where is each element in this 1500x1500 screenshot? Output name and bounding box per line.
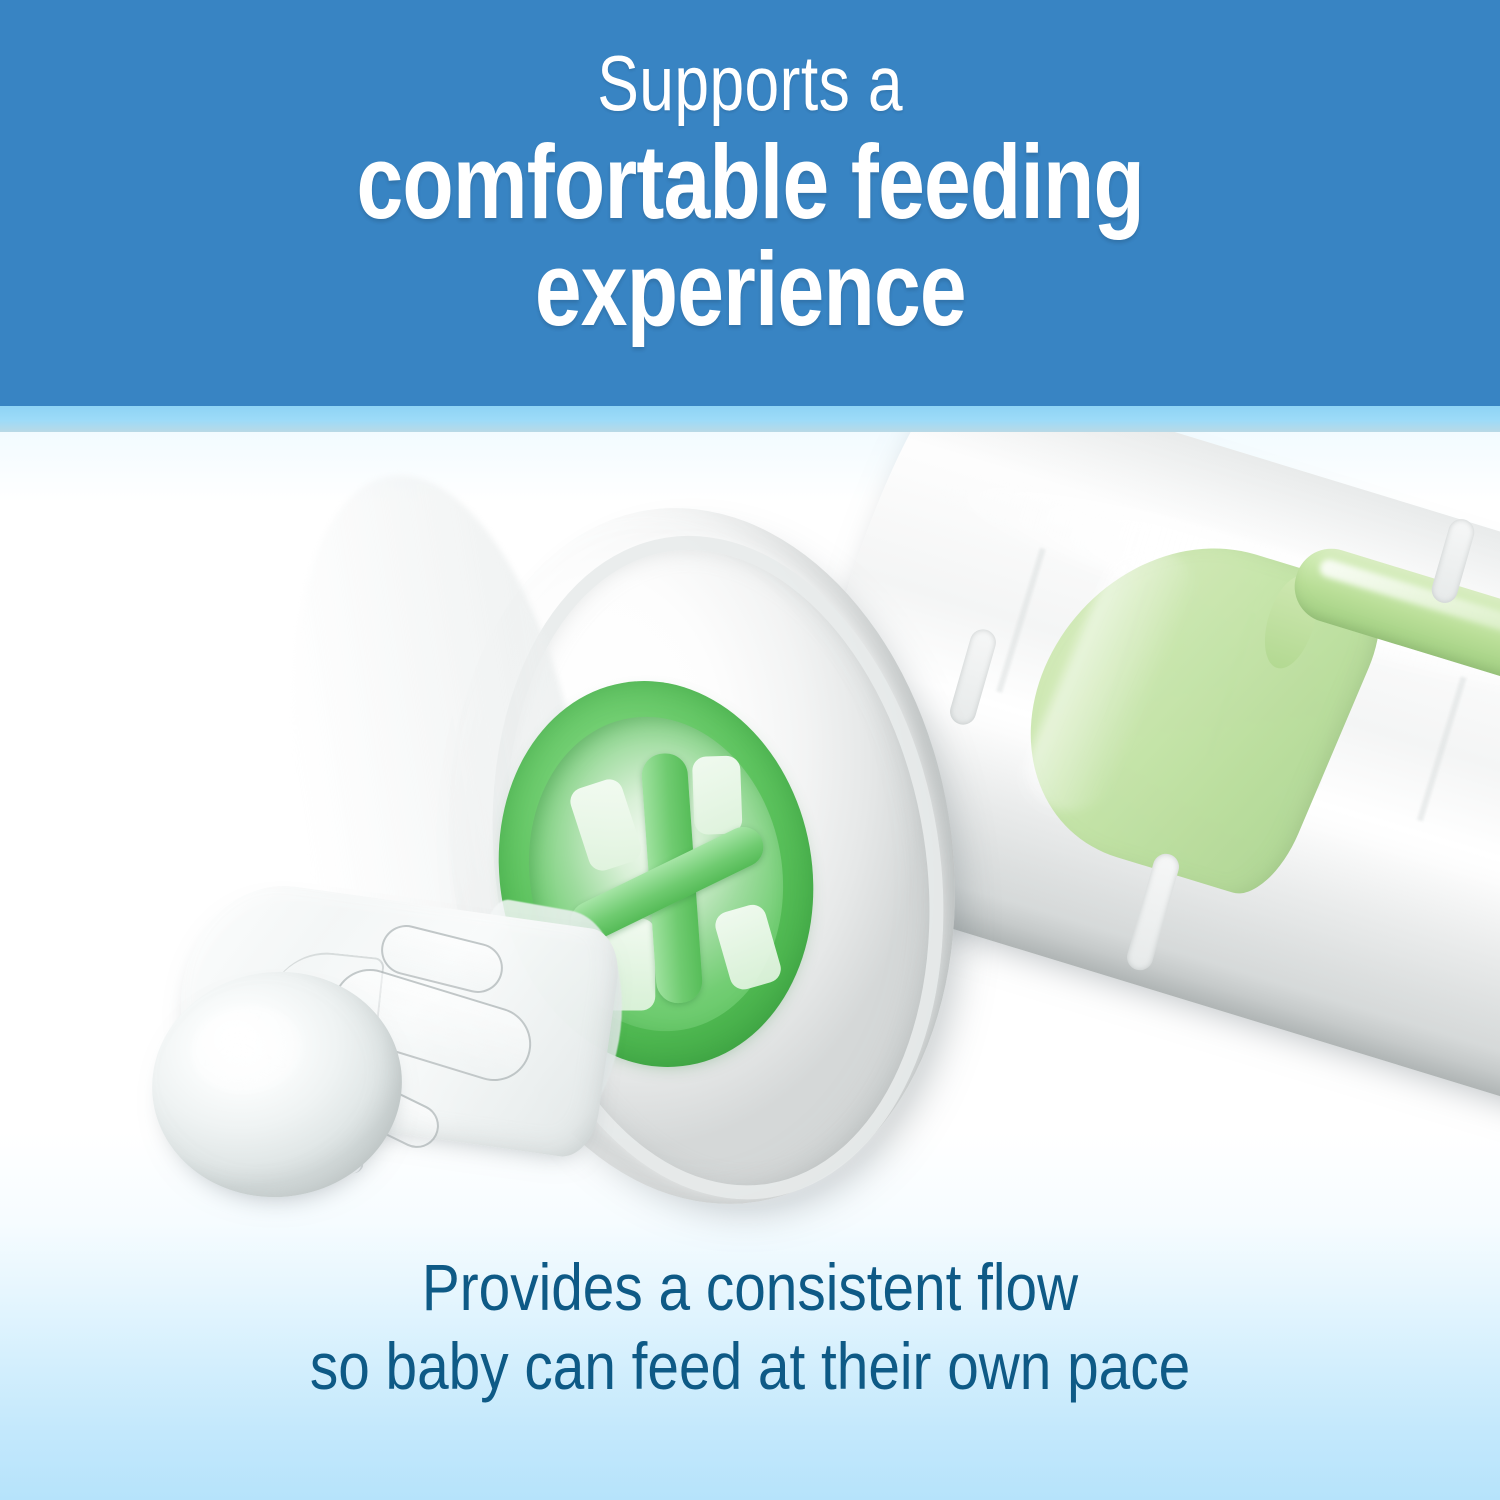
teat-bulb-highlight [188,1001,306,1098]
header-line-2: comfortable feeding [356,130,1144,235]
header-line-1: Supports a [597,44,903,122]
vent-window [692,755,743,835]
header-line-3: experience [535,237,966,342]
product-feature-image: Supports a comfortable feeding experienc… [0,0,1500,1500]
header-banner: Supports a comfortable feeding experienc… [0,0,1500,406]
footer-line-1: Provides a consistent flow [105,1248,1395,1327]
header-underbar-divider [0,406,1500,432]
vent-window [567,776,645,874]
footer-line-2: so baby can feed at their own pace [105,1327,1395,1406]
footer-caption: Provides a consistent flow so baby can f… [0,1248,1500,1406]
vent-window [712,902,784,993]
